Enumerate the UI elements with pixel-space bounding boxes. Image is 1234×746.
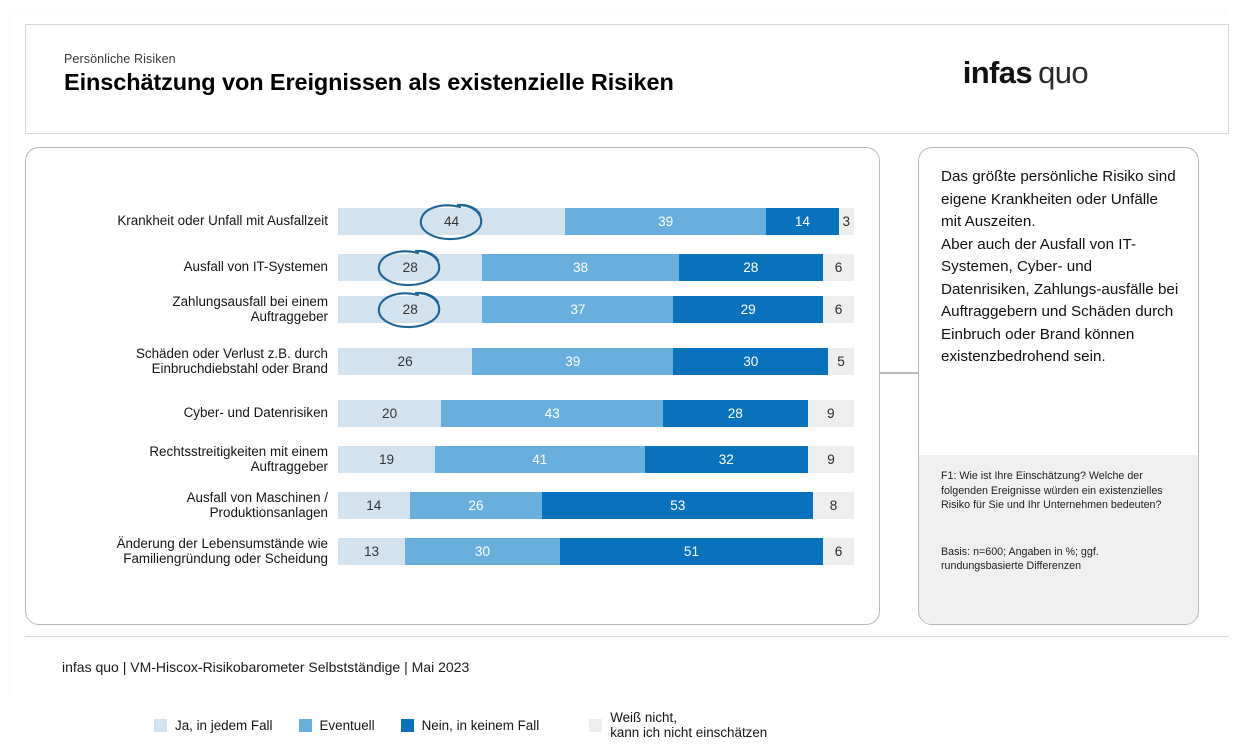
bar-segment: 9 [808,446,854,473]
bar-value-label: 8 [830,498,838,513]
logo-quo: quo [1038,55,1088,90]
bar-track: 1330516 [338,538,854,565]
table-row: Cyber- und Datenrisiken2043289 [44,390,864,436]
legend-swatch [401,719,414,732]
bar-segment: 43 [441,400,663,427]
bar-value-label: 14 [795,214,810,229]
insight-panel: Das größte persönliche Risiko sind eigen… [918,147,1199,625]
bar-value-label: 38 [573,260,588,275]
bar-track: 1426538 [338,492,854,519]
logo-infas: infas [963,55,1032,90]
bar-segment: 29 [673,296,823,323]
legend-label: Eventuell [320,718,375,733]
footer-source: infas quo | VM-Hiscox-Risikobarometer Se… [62,659,469,675]
slide-page: Persönliche Risiken Einschätzung von Ere… [0,0,1234,704]
table-row: Rechtsstreitigkeiten mit einem Auftragge… [44,436,864,482]
bar-segment: 6 [823,254,854,281]
bar-value-label: 39 [658,214,673,229]
chart-legend: Ja, in jedem FallEventuellNein, in keine… [154,704,884,746]
legend-item[interactable]: Ja, in jedem Fall [154,718,273,733]
bar-value-label: 14 [366,498,381,513]
panel-notes: F1: Wie ist Ihre Einschätzung? Welche de… [919,455,1198,624]
table-row: Änderung der Lebensumstände wie Familien… [44,528,864,574]
bar-value-label: 29 [741,302,756,317]
bar-segment: 14 [338,492,410,519]
legend-swatch [154,719,167,732]
table-row: Schäden oder Verlust z.B. durch Einbruch… [44,338,864,384]
bar-value-label: 19 [379,452,394,467]
bar-track: 2639305 [338,348,854,375]
bar-value-label: 28 [403,302,418,317]
legend-label: Nein, in keinem Fall [422,718,540,733]
bar-segment: 28 [679,254,823,281]
bar-row-label: Cyber- und Datenrisiken [44,405,338,421]
legend-item[interactable]: Eventuell [299,718,375,733]
bar-segment: 28 [338,254,482,281]
page-title: Einschätzung von Ereignissen als existen… [64,69,674,96]
bar-value-label: 28 [743,260,758,275]
bar-value-label: 43 [545,406,560,421]
bar-segment: 53 [542,492,813,519]
bar-row-label: Änderung der Lebensumstände wie Familien… [44,536,338,567]
legend-swatch [589,719,602,732]
bar-segment: 28 [338,296,482,323]
bar-value-label: 5 [837,354,845,369]
bar-segment: 6 [823,296,854,323]
bar-track: 2043289 [338,400,854,427]
panel-connector-line [880,372,918,374]
bar-segment: 28 [663,400,807,427]
bar-segment: 26 [410,492,543,519]
bar-track: 4439143 [338,208,854,235]
bar-segment: 8 [813,492,854,519]
bar-value-label: 6 [835,544,843,559]
legend-item[interactable]: Nein, in keinem Fall [401,718,540,733]
bar-row-label: Zahlungsausfall bei einem Auftraggeber [44,294,338,325]
bar-row-label: Schäden oder Verlust z.B. durch Einbruch… [44,346,338,377]
survey-question: F1: Wie ist Ihre Einschätzung? Welche de… [941,469,1184,513]
table-row: Ausfall von Maschinen / Produktionsanlag… [44,482,864,528]
bar-value-label: 28 [403,260,418,275]
bar-segment: 32 [645,446,808,473]
bar-track: 2837296 [338,296,854,323]
bar-segment: 37 [482,296,673,323]
bar-segment: 6 [823,538,854,565]
bar-value-label: 3 [842,214,850,229]
bar-value-label: 9 [827,452,835,467]
bar-segment: 3 [839,208,854,235]
table-row: Krankheit oder Unfall mit Ausfallzeit443… [44,198,864,244]
bar-segment: 5 [828,348,854,375]
footer-divider [25,636,1229,637]
bar-segment: 30 [405,538,560,565]
bar-value-label: 13 [364,544,379,559]
bar-segment: 51 [560,538,823,565]
bar-row-label: Ausfall von Maschinen / Produktionsanlag… [44,490,338,521]
bar-value-label: 20 [382,406,397,421]
bar-value-label: 44 [444,214,459,229]
bar-segment: 30 [673,348,828,375]
bar-segment: 39 [472,348,673,375]
bar-value-label: 41 [532,452,547,467]
bar-segment: 38 [482,254,678,281]
bar-row-label: Rechtsstreitigkeiten mit einem Auftragge… [44,444,338,475]
bar-value-label: 53 [670,498,685,513]
survey-basis: Basis: n=600; Angaben in %; ggf. rundung… [941,545,1184,574]
bar-segment: 26 [338,348,472,375]
bar-segment: 20 [338,400,441,427]
infas-quo-logo: infasquo [963,57,1088,88]
bar-segment: 44 [338,208,565,235]
slide-canvas: Persönliche Risiken Einschätzung von Ere… [14,14,1234,704]
legend-label: Weiß nicht, kann ich nicht einschätzen [610,710,767,740]
bar-value-label: 26 [468,498,483,513]
bar-segment: 39 [565,208,766,235]
legend-swatch [299,719,312,732]
bar-segment: 19 [338,446,435,473]
bar-segment: 9 [808,400,854,427]
bar-segment: 41 [435,446,644,473]
bar-segment: 13 [338,538,405,565]
bar-value-label: 6 [835,302,843,317]
insight-statement: Das größte persönliche Risiko sind eigen… [919,148,1198,369]
bar-value-label: 28 [728,406,743,421]
eyebrow-label: Persönliche Risiken [64,52,176,66]
table-row: Zahlungsausfall bei einem Auftraggeber28… [44,286,864,332]
bar-value-label: 30 [743,354,758,369]
bar-track: 1941329 [338,446,854,473]
table-row: Ausfall von IT-Systemen2838286 [44,244,864,290]
bar-track: 2838286 [338,254,854,281]
bar-value-label: 32 [719,452,734,467]
bar-value-label: 30 [475,544,490,559]
bar-row-label: Krankheit oder Unfall mit Ausfallzeit [44,213,338,229]
bar-segment: 14 [766,208,838,235]
chart-card: Krankheit oder Unfall mit Ausfallzeit443… [25,147,880,625]
bar-value-label: 51 [684,544,699,559]
legend-item[interactable]: Weiß nicht, kann ich nicht einschätzen [589,710,767,740]
bar-value-label: 9 [827,406,835,421]
bar-value-label: 26 [398,354,413,369]
header-card: Persönliche Risiken Einschätzung von Ere… [25,24,1229,134]
bar-value-label: 6 [835,260,843,275]
bar-value-label: 37 [570,302,585,317]
legend-label: Ja, in jedem Fall [175,718,273,733]
bar-value-label: 39 [565,354,580,369]
bar-row-label: Ausfall von IT-Systemen [44,259,338,275]
